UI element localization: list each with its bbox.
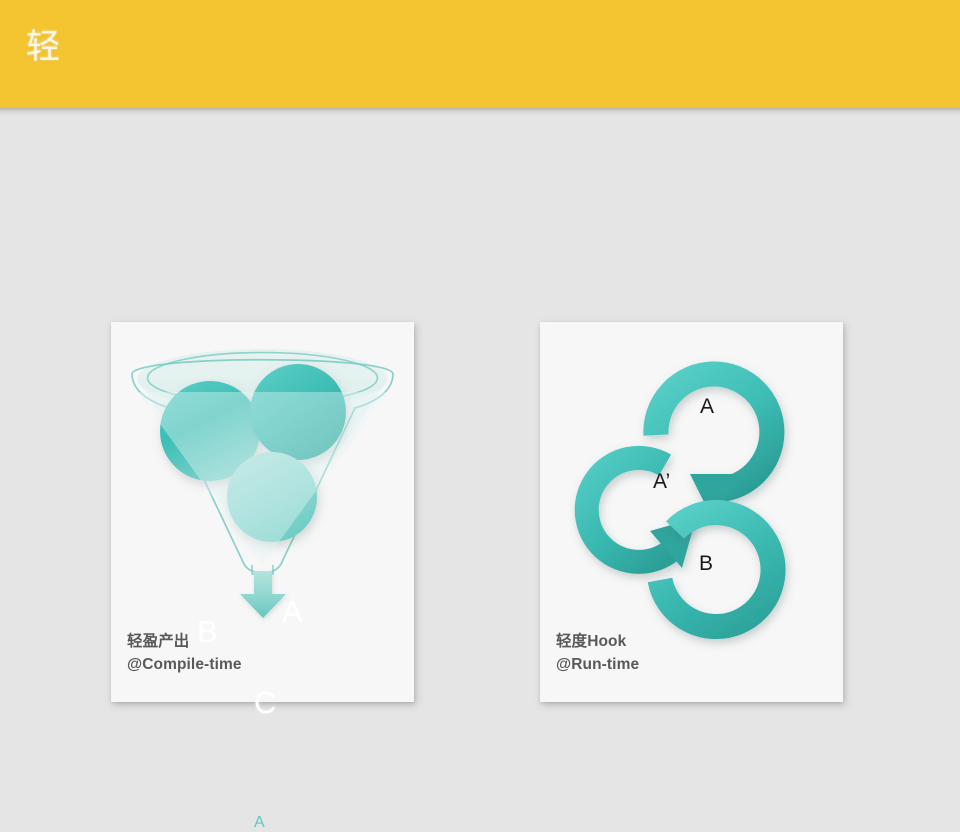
caption-line-2: @Run-time	[556, 653, 639, 676]
header-shadow	[0, 108, 960, 118]
card-caption-compile-time: 轻盈产出 @Compile-time	[127, 630, 242, 676]
hook-ring-label-aprime: A’	[653, 470, 670, 494]
caption-line-1: 轻盈产出	[127, 633, 189, 650]
caption-line-2: @Compile-time	[127, 653, 242, 676]
caption-line-1: 轻度Hook	[556, 633, 626, 650]
card-caption-run-time: 轻度Hook @Run-time	[556, 630, 639, 676]
funnel-input-a: A	[282, 594, 303, 630]
page-title: 轻	[26, 26, 61, 68]
card-run-time[interactable]: A A’ B 轻度Hook @Run-time	[540, 322, 843, 702]
slide-header: 轻	[0, 0, 960, 108]
card-compile-time[interactable]: A B C A 轻盈产出 @Compile-time	[111, 322, 414, 702]
hook-ring-label-b: B	[699, 552, 713, 576]
funnel-input-c: C	[254, 685, 276, 721]
funnel-output-label: A	[254, 814, 265, 832]
slide-body: A B C A 轻盈产出 @Compile-time	[0, 108, 960, 720]
circular-arrow-aprime	[587, 458, 696, 568]
circular-arrow-b	[660, 513, 773, 627]
hook-ring-label-a: A	[700, 395, 714, 419]
